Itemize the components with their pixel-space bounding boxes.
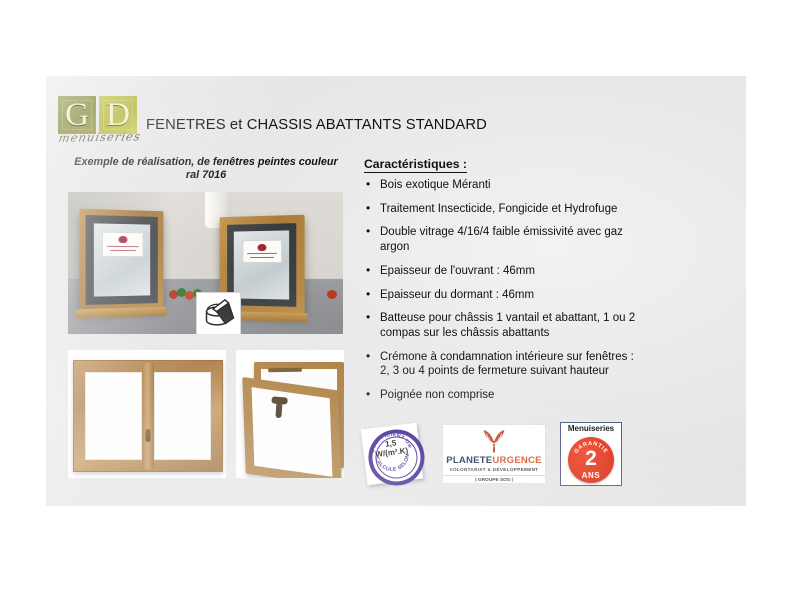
tilt-window-photo [236,350,344,478]
two-leaf-window-photo [68,350,226,478]
pu-name-planete: PLANETE [446,455,492,466]
list-item: Epaisseur du dormant : 46mm [364,288,640,303]
planete-urgence-name: PLANETEURGENCE [446,455,542,466]
logo-squares: G D [58,96,144,134]
list-item: Bois exotique Méranti [364,178,640,193]
list-item: Double vitrage 4/16/4 faible émissivité … [364,225,640,254]
tilt-window-stay [268,368,302,373]
tilt-window-leaf [242,377,341,478]
label-line-2 [110,250,135,251]
label-logo-dot [258,244,267,251]
window-handle [146,429,151,442]
list-item: Batteuse pour châssis 1 vantail et abatt… [364,311,640,340]
label-logo-dot [119,236,128,243]
window-sample-anthracite [79,209,163,312]
warranty-badge-title: Menuiseries [561,425,621,433]
two-leaf-window [73,360,223,472]
thermal-coefficient-badge: COEFFICIENT Uw CALCULE SELON 1,5 W/(m².K… [361,423,423,485]
list-item: Crémone à condamnation intérieure sur fe… [364,350,640,379]
logo-letter-d: D [106,99,130,132]
showroom-photo [68,192,343,334]
window-pane-left [85,372,142,460]
label-line-2 [250,257,274,258]
characteristics-list: Bois exotique Méranti Traitement Insecti… [364,178,640,412]
warranty-years-unit: ANS [568,471,614,480]
slide-canvas: G D menuiseries FENETRES et CHASSIS ABAT… [46,76,746,506]
photo-caption: Exemple de réalisation, de fenêtres pein… [68,156,344,183]
label-line-1 [247,253,277,255]
gd-menuiseries-logo: G D menuiseries [58,96,144,154]
window-label-card [242,240,282,263]
planete-urgence-subtitle: VOLONTARIAT & DÉVELOPPEMENT [450,467,539,472]
tree-icon [479,428,509,453]
warranty-badge: Menuiseries GARANTIE 2 ANS [560,422,622,486]
pu-name-urgence: URGENCE [492,455,541,466]
characteristics-heading: Caractéristiques : [364,157,467,173]
list-item: Traitement Insecticide, Fongicide et Hyd… [364,202,640,217]
list-item: Epaisseur de l'ouvrant : 46mm [364,264,640,279]
label-line-1 [107,246,139,248]
planete-urgence-badge: PLANETEURGENCE VOLONTARIAT & DÉVELOPPEME… [442,424,546,484]
tilt-window-handle [275,400,282,418]
certification-badges: COEFFICIENT Uw CALCULE SELON 1,5 W/(m².K… [364,424,644,486]
paint-bucket-icon [196,292,241,334]
logo-letter-g: G [65,99,89,132]
slide-title: FENETRES et CHASSIS ABATTANTS STANDARD [146,117,487,133]
tilt-window [242,358,336,470]
tilt-window-leaf-glass [252,387,333,476]
logo-square-d: D [99,96,137,134]
list-item: Poignée non comprise [364,388,640,403]
window-mullion [142,363,154,469]
logo-square-g: G [58,96,96,134]
warranty-stamp: GARANTIE 2 ANS [568,437,614,483]
warranty-years-number: 2 [568,448,614,469]
floor-object-far [327,290,337,299]
window-pane-right [154,372,211,460]
window-label-card [102,232,143,257]
planete-urgence-group: | GROUPE SOS | [443,475,545,483]
